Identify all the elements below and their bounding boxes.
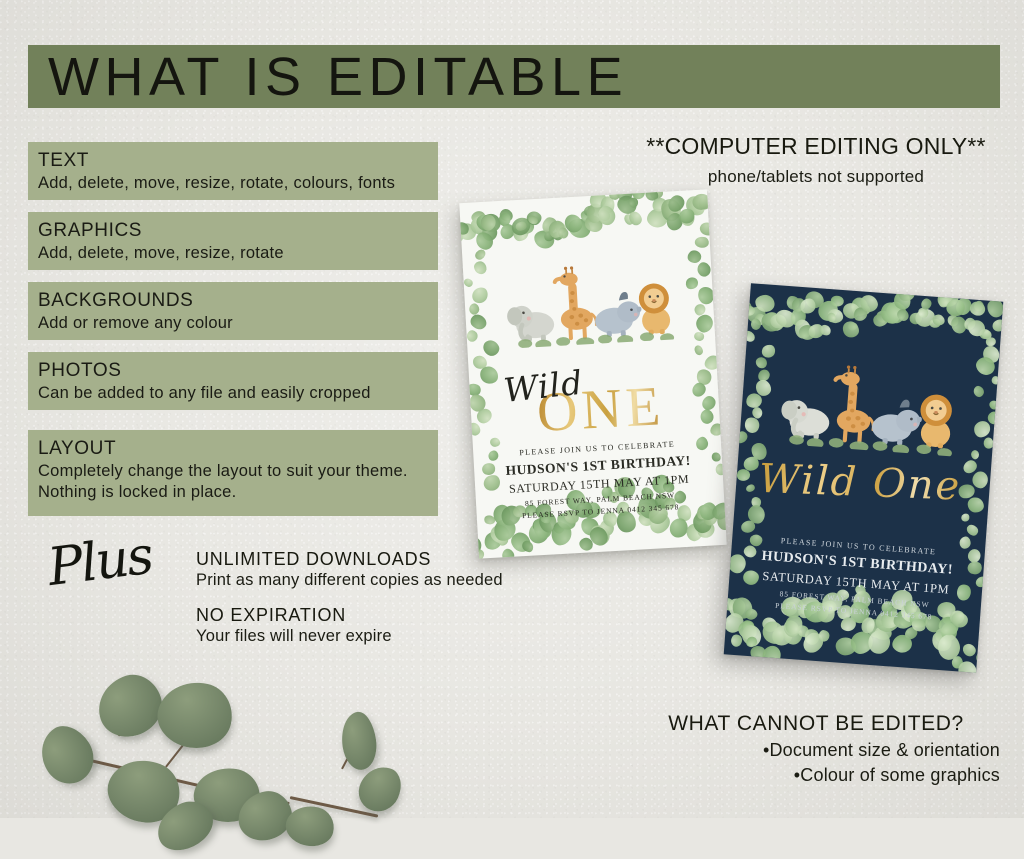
eucalyptus-leaf [694, 344, 704, 355]
feature-description: Add or remove any colour [38, 313, 233, 334]
feature-description: Add, delete, move, resize, rotate, colou… [38, 173, 395, 194]
eucalyptus-leaf [745, 484, 755, 493]
eucalyptus-leaf [801, 298, 817, 313]
eucalyptus-leaf [708, 421, 725, 439]
safari-animals-illustration-navy [775, 346, 962, 457]
plus-benefit-title: UNLIMITED DOWNLOADS [196, 549, 431, 570]
invitation-card-navy[interactable]: Wild One PLEASE JOIN US TO CELEBRATE HUD… [724, 283, 1004, 673]
computer-editing-notice: **COMPUTER EDITING ONLY** [630, 133, 1002, 160]
branch-leaf [90, 668, 169, 745]
feature-description: Can be added to any file and easily crop… [38, 383, 371, 404]
eucalyptus-leaf [669, 518, 688, 539]
eucalyptus-leaf [968, 319, 985, 336]
eucalyptus-leaf [968, 497, 985, 514]
eucalyptus-leaf [479, 366, 499, 385]
eucalyptus-leaf [741, 520, 756, 533]
eucalyptus-leaf [490, 436, 501, 447]
eucalyptus-leaf [974, 650, 990, 667]
eucalyptus-leaf [733, 430, 749, 445]
eucalyptus-leaf [470, 547, 486, 558]
cannot-edit-title: WHAT CANNOT BE EDITED? [630, 712, 1002, 736]
feature-title: BACKGROUNDS [38, 290, 193, 312]
plus-benefit-desc: Print as many different copies as needed [196, 571, 503, 590]
eucalyptus-leaf [761, 343, 777, 358]
plus-benefit-title: NO EXPIRATION [196, 605, 346, 626]
invitation-card-white[interactable]: Wild ONE PLEASE JOIN US TO CELEBRATE HUD… [459, 189, 726, 558]
eucalyptus-leaf [993, 319, 1004, 331]
eucalyptus-leaf [843, 321, 860, 338]
branch-leaf [152, 675, 238, 755]
eucalyptus-leaf [741, 329, 757, 345]
eucalyptus-leaf [698, 220, 717, 238]
eucalyptus-leaf [464, 328, 479, 343]
eucalyptus-leaf [481, 338, 502, 359]
eucalyptus-leaf [762, 645, 780, 665]
eucalyptus-leaf [958, 536, 971, 549]
eucalyptus-leaf [685, 276, 699, 290]
eucalyptus-leaf [970, 449, 981, 461]
feature-title: GRAPHICS [38, 220, 142, 242]
eucalyptus-leaf [989, 400, 1000, 411]
eucalyptus-leaf [473, 248, 487, 261]
page-title: WHAT IS EDITABLE [48, 48, 628, 106]
eucalyptus-leaf [960, 512, 970, 522]
feature-title: TEXT [38, 150, 89, 172]
eucalyptus-leaf [932, 314, 945, 326]
eucalyptus-leaf [987, 299, 1004, 317]
plus-benefit-desc: Your files will never expire [196, 627, 392, 646]
computer-editing-subnote: phone/tablets not supported [630, 167, 1002, 187]
eucalyptus-leaf [983, 436, 995, 449]
plus-script-label: Plus [45, 526, 155, 598]
eucalyptus-leaf [743, 456, 759, 470]
eucalyptus-leaf [470, 285, 489, 305]
card-navy-script-word: Wild One [758, 456, 962, 510]
feature-description: Add, delete, move, resize, rotate [38, 243, 284, 264]
cannot-edit-item: •Document size & orientation [763, 740, 1000, 761]
eucalyptus-leaf [755, 357, 767, 368]
eucalyptus-leaf [973, 421, 991, 438]
eucalyptus-leaf [459, 507, 473, 522]
cannot-edit-item: •Colour of some graphics [794, 765, 1000, 786]
eucalyptus-leaf [724, 597, 725, 613]
safari-animals-illustration [500, 247, 677, 348]
eucalyptus-leaf [694, 236, 710, 250]
eucalyptus-leaf [473, 261, 487, 276]
feature-title: LAYOUT [38, 438, 116, 460]
eucalyptus-leaf [462, 276, 474, 288]
branch-leaf [30, 717, 104, 793]
eucalyptus-leaf [468, 422, 482, 437]
eucalyptus-branch-decoration [0, 648, 410, 823]
eucalyptus-leaf [697, 407, 715, 426]
eucalyptus-leaf [972, 384, 986, 398]
feature-description: Completely change the layout to suit you… [38, 461, 408, 503]
feature-title: PHOTOS [38, 360, 122, 382]
eucalyptus-leaf [990, 374, 1001, 385]
